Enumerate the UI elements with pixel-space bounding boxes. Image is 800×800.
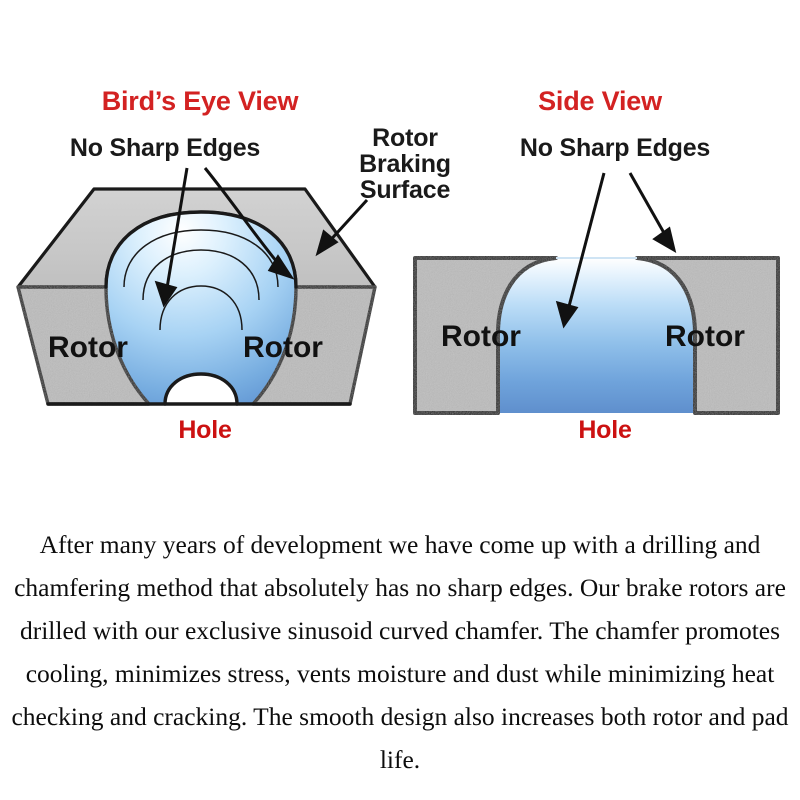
side-view-hole-label: Hole (510, 418, 700, 444)
arrow-no-sharp-edges-right-b (630, 173, 668, 240)
callout-no-sharp-edges-right: No Sharp Edges (450, 136, 780, 162)
side-view-rotor-label-right: Rotor (665, 320, 745, 354)
birds-eye-view-title: Bird’s Eye View (30, 88, 370, 116)
figure-svg (0, 0, 800, 470)
caption-paragraph: After many years of development we have … (0, 523, 800, 781)
page-root: Bird’s Eye View Side View No Sharp Edges… (0, 0, 800, 800)
rotor-chamfer-figure: Bird’s Eye View Side View No Sharp Edges… (0, 0, 800, 470)
callout-no-sharp-edges-left: No Sharp Edges (10, 136, 320, 162)
side-view-rotor-label-left: Rotor (441, 320, 521, 354)
birds-eye-rotor-label-left: Rotor (48, 331, 128, 365)
callout-rotor-braking-surface: Rotor Braking Surface (330, 126, 480, 203)
arrowhead-e (655, 229, 674, 250)
birds-eye-rotor-label-right: Rotor (243, 331, 323, 365)
birds-eye-hole-label: Hole (110, 418, 300, 444)
side-view-title: Side View (440, 88, 760, 116)
birds-eye-block (18, 189, 375, 404)
